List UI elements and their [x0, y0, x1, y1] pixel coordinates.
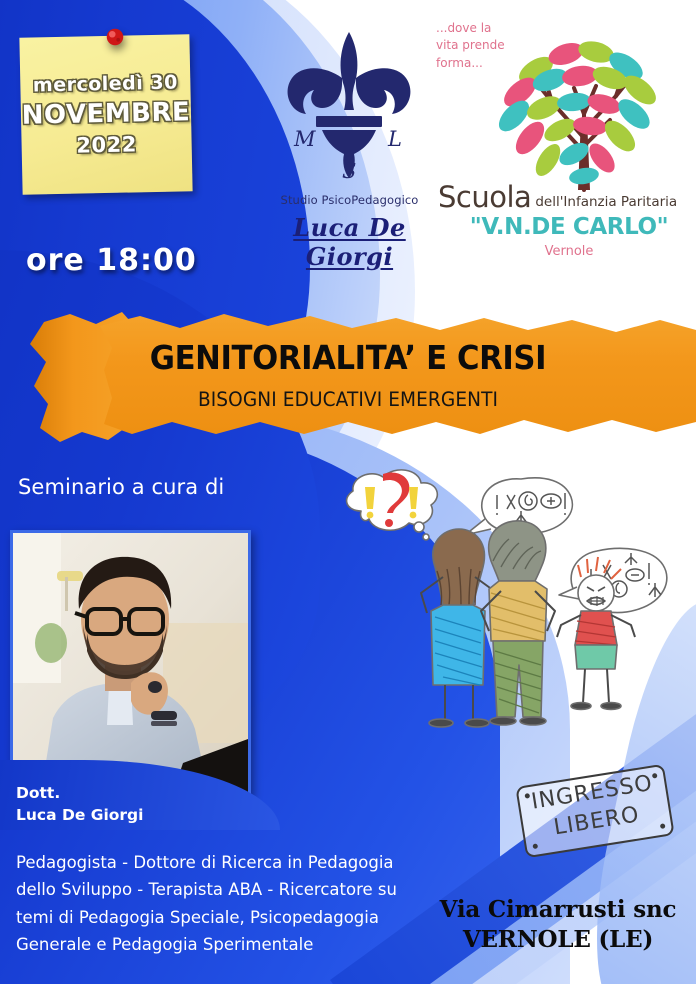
child-speech-bubble	[559, 548, 667, 612]
monogram-m: M	[293, 127, 316, 151]
school-word-subtitle: dell'Infanzia Paritaria	[535, 194, 677, 214]
monogram-l: L	[387, 127, 402, 151]
studio-logo: M L S Studio PsicoPedagogico Luca De Gio…	[262, 26, 437, 271]
hand-drawn-family-scene	[325, 465, 685, 765]
speaker-photo	[10, 530, 251, 796]
poster-title: GENITORIALITA’ E CRISI	[24, 338, 671, 377]
school-word-scuola: Scuola	[438, 180, 531, 214]
address-street: Via Cimarrusti snc	[430, 895, 686, 925]
thought-bubble	[347, 470, 438, 540]
speaker-title: Dott.	[16, 782, 143, 804]
poster-subtitle: BISOGNI EDUCATIVI EMERGENTI	[17, 388, 678, 411]
title-banner: GENITORIALITA’ E CRISI BISOGNI EDUCATIVI…	[0, 300, 696, 450]
date-sticky-note: mercoledì 30 NOVEMBRE 2022	[19, 34, 192, 195]
school-title-row: Scuola dell'Infanzia Paritaria	[438, 180, 690, 214]
studio-caption: Studio PsicoPedagogico	[262, 193, 437, 207]
studio-signature: Luca De Giorgi	[262, 213, 437, 271]
event-time: ore 18:00	[26, 243, 197, 278]
pushpin-icon	[104, 26, 126, 48]
address-city: VERNOLE (LE)	[430, 925, 686, 955]
note-month: NOVEMBRE	[21, 97, 190, 131]
school-name: "V.N.DE CARLO"	[444, 214, 694, 240]
note-weekday-day: mercoledì 30	[33, 71, 178, 96]
monogram-s: S	[342, 159, 356, 183]
event-poster: mercoledì 30 NOVEMBRE 2022 ore 18:00 M L…	[0, 0, 696, 984]
father-figure	[481, 521, 555, 725]
speaker-bio: Pedagogista - Dottore di Ricerca in Peda…	[16, 849, 426, 959]
fleur-de-lis-icon: M L S	[262, 26, 437, 186]
venue-address: Via Cimarrusti snc VERNOLE (LE)	[430, 895, 686, 955]
school-city: Vernole	[444, 244, 694, 259]
speaker-portrait-graphic	[13, 533, 248, 793]
family-illustration	[325, 465, 685, 765]
speaker-name-block: Dott. Luca De Giorgi	[16, 782, 143, 826]
mother-figure	[421, 529, 497, 727]
note-year: 2022	[76, 132, 137, 157]
heart-tree-icon	[474, 18, 694, 198]
seminar-intro: Seminario a cura di	[18, 475, 224, 499]
speaker-name: Luca De Giorgi	[16, 804, 143, 826]
